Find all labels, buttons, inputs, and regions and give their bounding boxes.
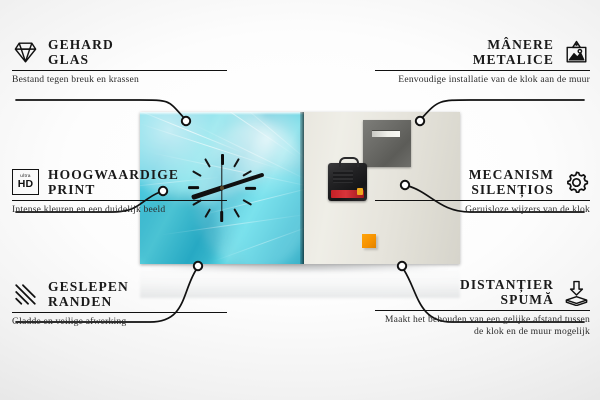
callout-description: Maakt het behouden van een gelijke afsta…	[375, 314, 590, 337]
callout-header: MECANISM SILENȚIOS	[375, 168, 590, 197]
callout-title: MÂNERE METALICE	[473, 38, 554, 67]
leader-endpoint	[398, 262, 406, 270]
press-down-pad-icon	[563, 279, 590, 306]
callout-description: Bestand tegen breuk en krassen	[12, 74, 227, 86]
feature-callout-gehard-glas: GEHARD GLAS Bestand tegen breuk en krass…	[12, 38, 227, 86]
callout-description: Intense kleuren en een duidelijk beeld	[12, 204, 227, 216]
callout-divider	[12, 200, 227, 201]
callout-divider	[12, 70, 227, 71]
callout-title: HOOGWAARDIGE PRINT	[48, 168, 179, 197]
callout-title: GESLEPEN RANDEN	[48, 280, 129, 309]
callout-header: GESLEPEN RANDEN	[12, 280, 227, 309]
leader-endpoint	[416, 117, 424, 125]
callout-title: GEHARD GLAS	[48, 38, 114, 67]
leader-endpoint	[182, 117, 190, 125]
diamond-icon	[12, 39, 39, 66]
feature-callout-mecanism-silentios: MECANISM SILENȚIOS Geruisloze wijzers va…	[375, 168, 590, 216]
callout-header: DISTANȚIER SPUMĂ	[375, 278, 590, 307]
feature-callout-hoogwaardige-print: ultra HD HOOGWAARDIGE PRINT Intense kleu…	[12, 168, 227, 216]
callout-title: MECANISM SILENȚIOS	[469, 168, 554, 197]
ultra-hd-large-label: HD	[18, 179, 34, 190]
callout-divider	[375, 200, 590, 201]
picture-frame-hanger-icon	[563, 39, 590, 66]
callout-header: ultra HD HOOGWAARDIGE PRINT	[12, 168, 227, 197]
callout-header: GEHARD GLAS	[12, 38, 227, 67]
callout-description: Geruisloze wijzers van de klok	[375, 204, 590, 216]
callout-description: Eenvoudige installatie van de klok aan d…	[375, 74, 590, 86]
feature-callout-geslepen-randen: GESLEPEN RANDEN Gladde en veilige afwerk…	[12, 280, 227, 328]
diagonal-lines-icon	[12, 281, 39, 308]
callout-header: MÂNERE METALICE	[375, 38, 590, 67]
gear-icon	[563, 169, 590, 196]
callout-divider	[375, 70, 590, 71]
callout-divider	[12, 312, 227, 313]
feature-callout-distantier-spuma: DISTANȚIER SPUMĂ Maakt het behouden van …	[375, 278, 590, 337]
leader-endpoint	[194, 262, 202, 270]
feature-callout-manere-metalice: MÂNERE METALICE Eenvoudige installatie v…	[375, 38, 590, 86]
callout-description: Gladde en veilige afwerking	[12, 316, 227, 328]
callout-title: DISTANȚIER SPUMĂ	[460, 278, 554, 307]
infographic-canvas: GEHARD GLAS Bestand tegen breuk en krass…	[0, 0, 600, 400]
callout-divider	[375, 310, 590, 311]
ultra-hd-icon: ultra HD	[12, 169, 39, 196]
